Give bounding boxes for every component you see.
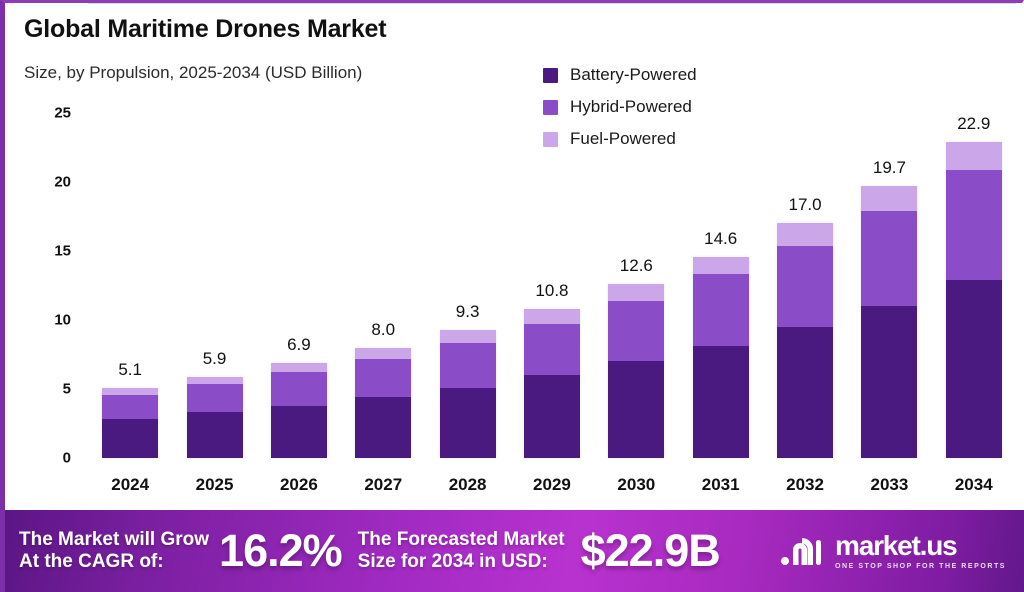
bar-column[interactable]: 5.9	[187, 113, 243, 458]
x-axis-tick-label: 2033	[847, 475, 931, 495]
bar-column[interactable]: 14.6	[693, 113, 749, 458]
bar-segment[interactable]	[524, 375, 580, 458]
bar-stack[interactable]	[355, 348, 411, 458]
infographic-container: Global Maritime Drones Market Size, by P…	[0, 0, 1024, 592]
forecast-label-line1: The Forecasted Market	[358, 529, 565, 551]
bar-column[interactable]: 9.3	[440, 113, 496, 458]
bar-column[interactable]: 17.0	[777, 113, 833, 458]
bar-stack[interactable]	[187, 377, 243, 458]
bar-segment[interactable]	[946, 170, 1002, 280]
logo-tagline: ONE STOP SHOP FOR THE REPORTS	[835, 563, 1006, 570]
y-axis-tick-label: 0	[23, 450, 71, 467]
bar-segment[interactable]	[777, 223, 833, 245]
bar-column[interactable]: 8.0	[355, 113, 411, 458]
bar-total-label: 19.7	[873, 158, 906, 178]
bar-column[interactable]: 5.1	[102, 113, 158, 458]
bar-stack[interactable]	[777, 223, 833, 458]
bar-stack[interactable]	[440, 330, 496, 458]
bar-stack[interactable]	[861, 186, 917, 458]
y-axis-tick-label: 10	[23, 312, 71, 329]
forecast-block: The Forecasted Market Size for 2034 in U…	[358, 525, 720, 577]
x-axis-tick-label: 2032	[763, 475, 847, 495]
bar-segment[interactable]	[861, 211, 917, 306]
bar-total-label: 6.9	[287, 335, 311, 355]
bar-segment[interactable]	[440, 388, 496, 458]
bar-segment[interactable]	[187, 384, 243, 413]
bar-segment[interactable]	[271, 363, 327, 373]
y-axis-tick-label: 20	[23, 174, 71, 191]
bar-total-label: 17.0	[789, 195, 822, 215]
cagr-label: The Market will Grow At the CAGR of:	[19, 529, 209, 574]
bar-stack[interactable]	[693, 257, 749, 458]
bar-total-label: 14.6	[704, 229, 737, 249]
bar-segment[interactable]	[608, 284, 664, 301]
x-axis-tick-label: 2027	[341, 475, 425, 495]
bar-segment[interactable]	[693, 257, 749, 275]
bar-segment[interactable]	[608, 361, 664, 458]
x-axis-tick-label: 2030	[594, 475, 678, 495]
bar-column[interactable]: 19.7	[861, 113, 917, 458]
bar-segment[interactable]	[777, 327, 833, 458]
x-axis-tick-label: 2029	[510, 475, 594, 495]
forecast-label: The Forecasted Market Size for 2034 in U…	[358, 529, 565, 574]
bar-total-label: 8.0	[371, 320, 395, 340]
bar-total-label: 9.3	[456, 302, 480, 322]
bar-total-label: 5.1	[118, 360, 142, 380]
bar-segment[interactable]	[271, 406, 327, 458]
logo-name: market.us	[835, 532, 1006, 560]
bottom-banner: The Market will Grow At the CAGR of: 16.…	[5, 510, 1024, 592]
x-axis-labels: 2024202520262027202820292030203120322033…	[88, 475, 1016, 495]
bar-segment[interactable]	[777, 246, 833, 327]
bar-total-label: 22.9	[957, 114, 990, 134]
brand-logo[interactable]: market.us ONE STOP SHOP FOR THE REPORTS	[780, 532, 1006, 570]
bar-segment[interactable]	[187, 377, 243, 384]
bar-segment[interactable]	[187, 412, 243, 458]
logo-text-group: market.us ONE STOP SHOP FOR THE REPORTS	[835, 532, 1006, 570]
forecast-label-line2: Size for 2034 in USD:	[358, 551, 565, 573]
y-axis-tick-label: 25	[23, 105, 71, 122]
bar-segment[interactable]	[271, 372, 327, 405]
bar-segment[interactable]	[355, 359, 411, 398]
chart-plot-area: 0510152025 5.15.96.98.09.310.812.614.617…	[5, 3, 1024, 508]
cagr-block: The Market will Grow At the CAGR of: 16.…	[19, 525, 342, 577]
bar-total-label: 12.6	[620, 256, 653, 276]
bar-segment[interactable]	[946, 142, 1002, 170]
bar-segment[interactable]	[524, 309, 580, 324]
bar-segment[interactable]	[524, 324, 580, 375]
x-axis-tick-label: 2026	[257, 475, 341, 495]
x-axis-tick-label: 2034	[932, 475, 1016, 495]
forecast-value: $22.9B	[581, 525, 720, 577]
cagr-label-line2: At the CAGR of:	[19, 551, 209, 573]
bar-stack[interactable]	[102, 388, 158, 458]
bar-column[interactable]: 22.9	[946, 113, 1002, 458]
y-axis-tick-label: 5	[23, 381, 71, 398]
bar-segment[interactable]	[102, 419, 158, 458]
bar-segment[interactable]	[861, 186, 917, 211]
bar-total-label: 10.8	[535, 281, 568, 301]
x-axis-tick-label: 2028	[426, 475, 510, 495]
bar-column[interactable]: 12.6	[608, 113, 664, 458]
bar-segment[interactable]	[693, 274, 749, 346]
bar-segment[interactable]	[102, 395, 158, 420]
bar-segment[interactable]	[693, 346, 749, 458]
bar-segment[interactable]	[440, 343, 496, 387]
bar-stack[interactable]	[946, 142, 1002, 458]
bar-column[interactable]: 10.8	[524, 113, 580, 458]
market-us-logo-icon	[780, 534, 826, 568]
bar-segment[interactable]	[355, 348, 411, 359]
bar-column[interactable]: 6.9	[271, 113, 327, 458]
bar-segment[interactable]	[440, 330, 496, 344]
bar-segment[interactable]	[946, 280, 1002, 458]
bar-segment[interactable]	[608, 301, 664, 362]
bar-segment[interactable]	[355, 397, 411, 458]
bar-stack[interactable]	[271, 363, 327, 458]
bar-stack[interactable]	[608, 284, 664, 458]
x-axis-tick-label: 2025	[173, 475, 257, 495]
cagr-label-line1: The Market will Grow	[19, 529, 209, 551]
bar-segment[interactable]	[102, 388, 158, 395]
x-axis-tick-label: 2031	[679, 475, 763, 495]
bar-segment[interactable]	[861, 306, 917, 458]
x-axis-line	[88, 3, 1016, 4]
bar-series-group: 5.15.96.98.09.310.812.614.617.019.722.9	[88, 113, 1016, 458]
x-axis-tick-label: 2024	[88, 475, 172, 495]
bar-stack[interactable]	[524, 309, 580, 458]
cagr-value: 16.2%	[219, 525, 342, 577]
bar-total-label: 5.9	[203, 349, 227, 369]
y-axis-tick-label: 15	[23, 243, 71, 260]
